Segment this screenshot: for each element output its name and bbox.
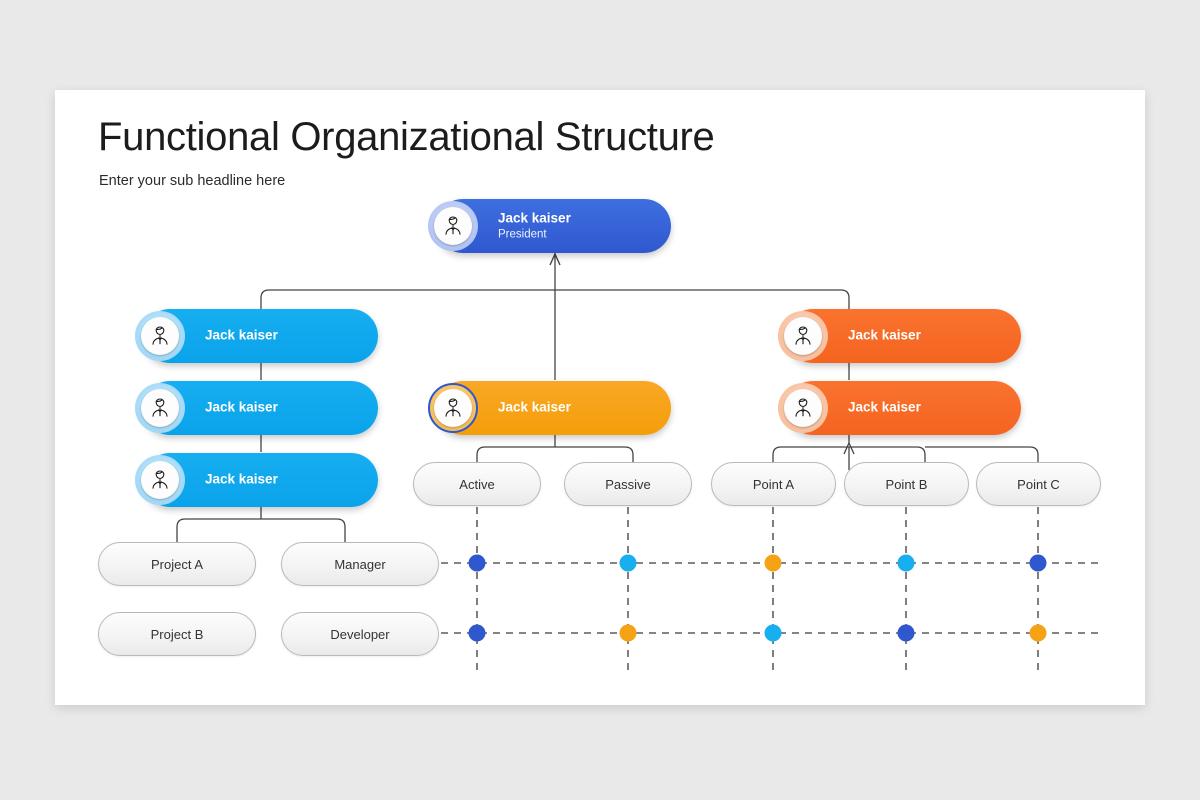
grid-dot-r1-c2 bbox=[620, 555, 637, 572]
node-name: Jack kaiser bbox=[498, 400, 571, 417]
grid-dot-r2-c5 bbox=[1030, 625, 1047, 642]
box-developer[interactable]: Developer bbox=[281, 612, 439, 656]
node-name: Jack kaiser bbox=[205, 472, 278, 489]
node-name: Jack kaiser bbox=[498, 210, 571, 227]
avatar bbox=[778, 383, 828, 433]
node-cyan-3[interactable]: Jack kaiser bbox=[143, 453, 378, 507]
node-name: Jack kaiser bbox=[848, 400, 921, 417]
node-name: Jack kaiser bbox=[848, 328, 921, 345]
node-orange-2[interactable]: Jack kaiser bbox=[786, 381, 1021, 435]
box-passive[interactable]: Passive bbox=[564, 462, 692, 506]
person-icon bbox=[148, 324, 172, 348]
avatar bbox=[135, 383, 185, 433]
person-icon bbox=[791, 396, 815, 420]
node-president[interactable]: Jack kaiser President bbox=[436, 199, 671, 253]
slide-canvas: Functional Organizational Structure Ente… bbox=[55, 90, 1145, 705]
box-active[interactable]: Active bbox=[413, 462, 541, 506]
node-role: President bbox=[498, 227, 571, 241]
person-icon bbox=[441, 396, 465, 420]
avatar bbox=[135, 311, 185, 361]
grid-dot-r2-c1 bbox=[469, 625, 486, 642]
avatar bbox=[428, 201, 478, 251]
page-title: Functional Organizational Structure bbox=[98, 115, 715, 160]
grid-dot-r2-c4 bbox=[898, 625, 915, 642]
node-name: Jack kaiser bbox=[205, 400, 278, 417]
node-cyan-2[interactable]: Jack kaiser bbox=[143, 381, 378, 435]
box-point-b[interactable]: Point B bbox=[844, 462, 969, 506]
grid-dot-r1-c1 bbox=[469, 555, 486, 572]
box-manager[interactable]: Manager bbox=[281, 542, 439, 586]
person-icon bbox=[441, 214, 465, 238]
box-project-a[interactable]: Project A bbox=[98, 542, 256, 586]
node-cyan-1[interactable]: Jack kaiser bbox=[143, 309, 378, 363]
person-icon bbox=[148, 396, 172, 420]
person-icon bbox=[148, 468, 172, 492]
node-amber-1[interactable]: Jack kaiser bbox=[436, 381, 671, 435]
page-subtitle: Enter your sub headline here bbox=[99, 173, 285, 189]
grid-dot-r1-c4 bbox=[898, 555, 915, 572]
node-name: Jack kaiser bbox=[205, 328, 278, 345]
box-point-a[interactable]: Point A bbox=[711, 462, 836, 506]
person-icon bbox=[791, 324, 815, 348]
avatar bbox=[428, 383, 478, 433]
grid-dot-r2-c3 bbox=[765, 625, 782, 642]
grid-dot-r1-c3 bbox=[765, 555, 782, 572]
avatar bbox=[778, 311, 828, 361]
avatar bbox=[135, 455, 185, 505]
grid-dot-r1-c5 bbox=[1030, 555, 1047, 572]
box-point-c[interactable]: Point C bbox=[976, 462, 1101, 506]
grid-dot-r2-c2 bbox=[620, 625, 637, 642]
box-project-b[interactable]: Project B bbox=[98, 612, 256, 656]
node-orange-1[interactable]: Jack kaiser bbox=[786, 309, 1021, 363]
